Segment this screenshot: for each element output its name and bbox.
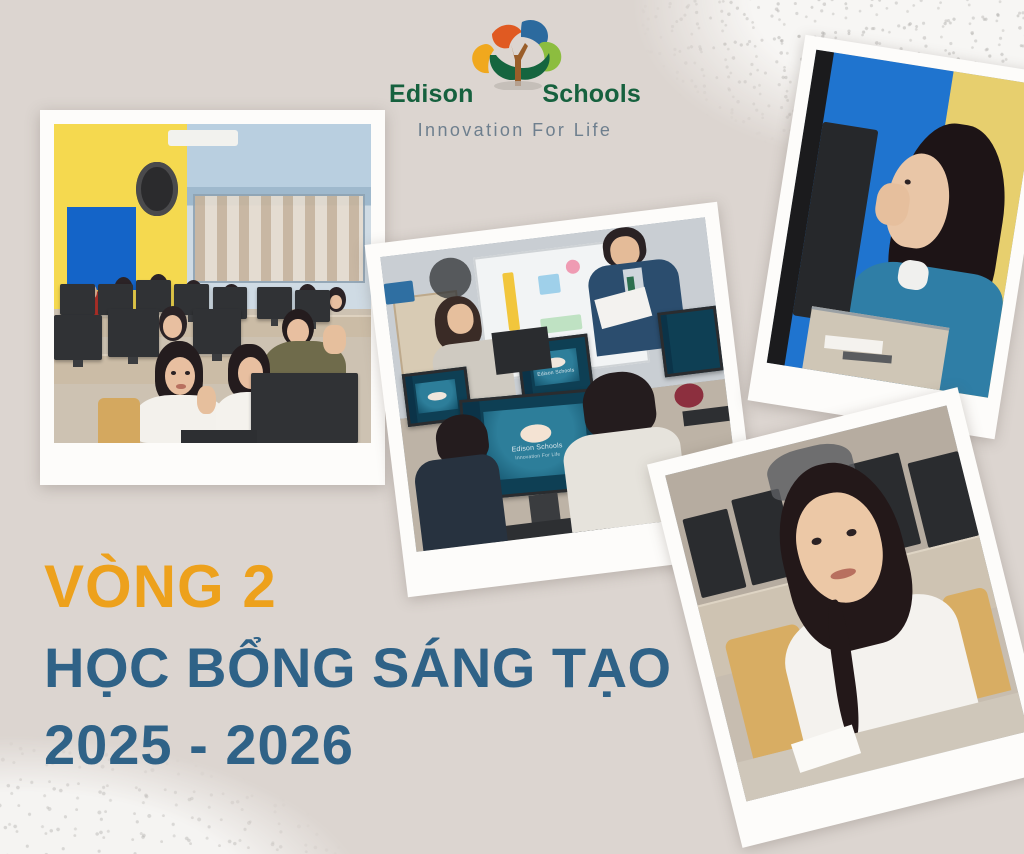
chair (98, 398, 139, 443)
wallpaper-brand-line: Edison Schools (537, 367, 575, 377)
photo-classroom-wide-image (54, 124, 371, 443)
monitor (60, 284, 95, 316)
student-smiling-scene (665, 405, 1024, 801)
mouth (176, 384, 186, 388)
headline-block: VÒNG 2 HỌC BỔNG SÁNG TẠO 2025 - 2026 (44, 556, 684, 775)
eye (185, 371, 190, 375)
wall-sign (384, 280, 416, 304)
monitor-foreground (251, 373, 359, 443)
edison-schools-logo: Edison Schools Innovation For Life (385, 14, 645, 142)
student-front-face (165, 357, 195, 395)
photo-student-smiling (647, 387, 1024, 848)
wallpaper-tree-icon (520, 424, 552, 444)
logo-tagline: Innovation For Life (385, 120, 645, 141)
photo-student-thinking (748, 35, 1024, 440)
year-range: 2025 - 2026 (44, 716, 684, 775)
classroom-scene (54, 124, 371, 443)
desktop-wallpaper (415, 379, 459, 413)
student-thinking-scene (767, 50, 1024, 398)
wallpaper-tagline: Innovation For Life (515, 452, 561, 462)
window-frame (193, 194, 364, 283)
photo-student-thinking-image (767, 50, 1024, 398)
monitor (492, 326, 552, 374)
tree-logo-icon (456, 14, 574, 90)
monitor-large (193, 309, 241, 354)
photo-classroom-wide (40, 110, 385, 485)
logo-wordmark: Edison Schools (385, 80, 645, 109)
round-label: VÒNG 2 (44, 556, 684, 617)
raised-hand (323, 325, 345, 354)
monitor-large (108, 309, 159, 357)
logo-name-second: Schools (538, 80, 645, 109)
logo-name-first: Edison (385, 80, 478, 109)
student-front-hand (197, 386, 216, 415)
wall-fan-icon (136, 162, 177, 216)
monitor-large (54, 315, 102, 360)
board-sticker (565, 259, 581, 275)
keyboard (181, 430, 257, 443)
student-left-body (412, 452, 507, 551)
scholarship-title: HỌC BỔNG SÁNG TẠO (44, 639, 684, 698)
board-sticker (502, 272, 520, 331)
wallpaper-tree-icon (427, 391, 446, 402)
photo-student-smiling-image (665, 405, 1024, 801)
student-face (163, 315, 182, 337)
ceiling-light (168, 130, 238, 146)
poster-canvas: Edison Schools Innovation For Life (0, 0, 1024, 854)
board-sticker (538, 274, 561, 296)
monitor (657, 306, 723, 378)
